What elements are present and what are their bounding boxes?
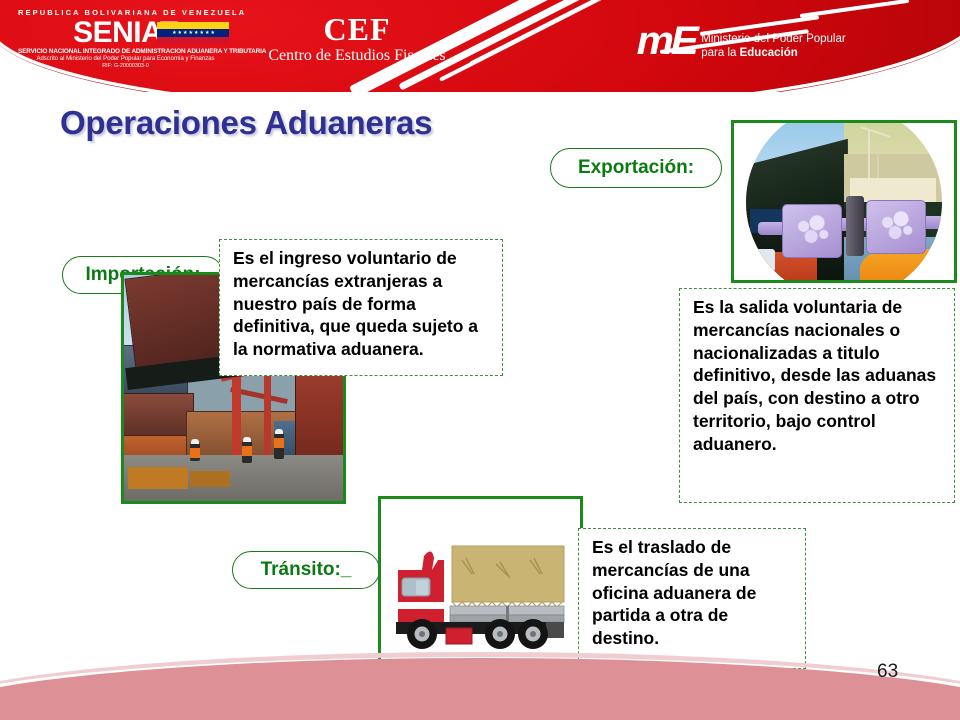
seniat-wordmark: SENIAT ★★★★★★★★ (18, 18, 233, 47)
page-number: 63 (877, 661, 898, 683)
flag-stars: ★★★★★★★★ (171, 30, 217, 37)
description-exportacion: Es la salida voluntaria de mercancías na… (679, 288, 955, 503)
header-banner: REPUBLICA BOLIVARIANA DE VENEZUELA SENIA… (0, 0, 960, 92)
ministry-name: Ministerio del Poder Popular para la Edu… (701, 32, 845, 60)
ministry-line-2-bold: Educación (740, 47, 798, 59)
page-title: Operaciones Aduaneras (60, 104, 432, 142)
slide-canvas: REPUBLICA BOLIVARIANA DE VENEZUELA SENIA… (0, 0, 960, 720)
ministry-line-1: Ministerio del Poder Popular (701, 32, 845, 46)
ministry-line-2: para la Educación (701, 46, 845, 60)
cef-acronym: CEF (262, 12, 452, 46)
description-importacion: Es el ingreso voluntario de mercancías e… (219, 239, 503, 376)
ministry-line-2-prefix: para la (701, 47, 739, 59)
cef-name: Centro de Estudios Fiscales (262, 46, 452, 66)
seniat-logo: REPUBLICA BOLIVARIANA DE VENEZUELA SENIA… (18, 8, 233, 69)
label-exportacion: Exportación: (550, 148, 722, 188)
label-exportacion-text: Exportación: (578, 157, 694, 179)
worker-icon (190, 443, 200, 461)
worker-icon (242, 441, 252, 463)
globe-cube-icon (866, 200, 926, 254)
worker-icon (274, 433, 284, 459)
ministry-logo: mE Ministerio del Poder Popular para la … (638, 22, 846, 60)
seniat-subtitle-2: Adscrito al Ministerio del Poder Popular… (18, 56, 233, 62)
footer-wave-highlight (0, 652, 960, 720)
camion-carga-icon (390, 534, 572, 652)
seniat-rif: RIF: G-20000303-0 (18, 63, 233, 69)
ministry-mark-icon: mE (637, 23, 696, 59)
seniat-subtitle-1: SERVICIO NACIONAL INTEGRADO DE ADMINISTR… (18, 48, 233, 55)
label-transito: Tránsito:_ (232, 551, 380, 589)
cef-logo: CEF Centro de Estudios Fiscales (262, 12, 452, 66)
collage-comercio-global-icon (746, 120, 942, 283)
label-transito-text: Tránsito: (261, 559, 341, 581)
globe-cube-icon (782, 204, 842, 258)
image-exportacion (731, 120, 957, 283)
label-transito-suffix: _ (341, 559, 352, 581)
description-transito: Es el traslado de mercancías de una ofic… (578, 528, 806, 669)
venezuela-flag-icon: ★★★★★★★★ (157, 22, 229, 44)
